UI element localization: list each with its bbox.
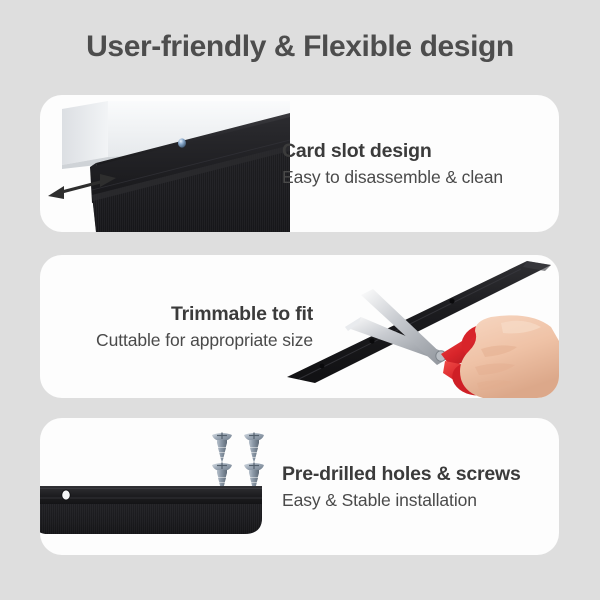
trimmable-text-block: Trimmable to fit Cuttable for appropriat… (56, 301, 313, 351)
pre-drilled-subtitle: Easy & Stable installation (282, 489, 541, 512)
feature-card-card-slot: Card slot design Easy to disassemble & c… (40, 95, 559, 232)
black-brush-door-sweep (40, 486, 262, 534)
card-slot-text-block: Card slot design Easy to disassemble & c… (282, 138, 541, 188)
pre-drilled-title: Pre-drilled holes & screws (282, 461, 541, 485)
page-title: User-friendly & Flexible design (0, 30, 600, 64)
screw-2 (244, 433, 264, 463)
card-slot-subtitle: Easy to disassemble & clean (282, 166, 541, 189)
feature-card-pre-drilled: Pre-drilled holes & screws Easy & Stable… (40, 418, 559, 555)
pre-drilled-text-block: Pre-drilled holes & screws Easy & Stable… (282, 461, 541, 511)
trimmable-subtitle: Cuttable for appropriate size (56, 329, 313, 352)
blue-screw-head (178, 138, 186, 147)
card-slot-title: Card slot design (282, 138, 541, 162)
trimmable-title: Trimmable to fit (56, 301, 313, 325)
door-sweep-with-screws-illustration (40, 418, 290, 555)
screw-1 (212, 433, 232, 463)
feature-card-trimmable: Trimmable to fit Cuttable for appropriat… (40, 255, 559, 398)
door-sweep-card-slot-illustration (40, 95, 290, 232)
